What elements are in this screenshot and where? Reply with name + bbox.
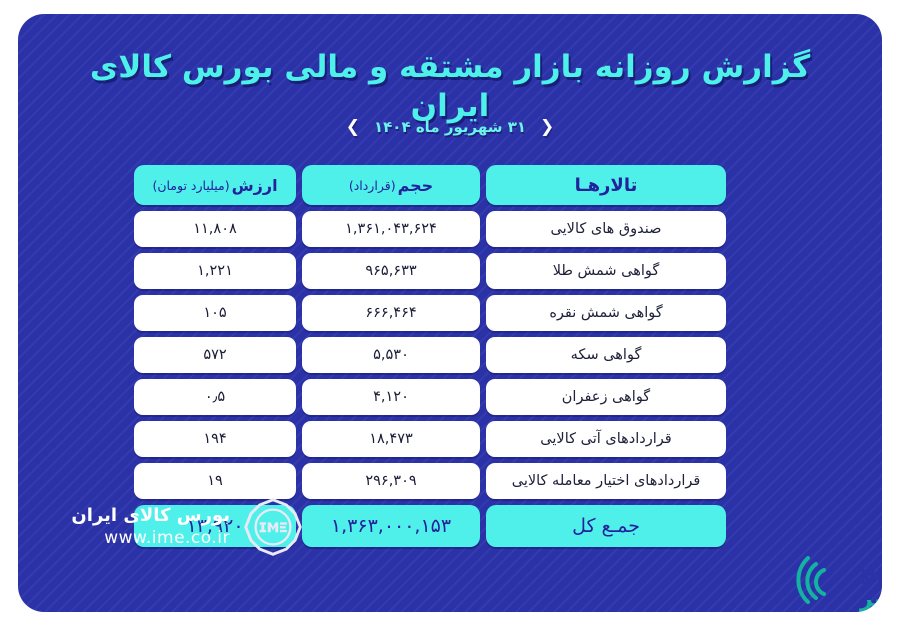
- chevron-left-icon: ❮: [540, 119, 554, 136]
- footer-brand: بورس کالای ایران www.ime.co.ir: [71, 498, 882, 556]
- cell-hall: قراردادهای آتی کالایی: [486, 421, 726, 457]
- column-header-volume-main: حجم: [398, 176, 434, 195]
- cell-volume: ۵,۵۳۰: [302, 337, 480, 373]
- cell-hall: گواهی زعفران: [486, 379, 726, 415]
- cell-volume: ۱۸,۴۷۳: [302, 421, 480, 457]
- footer: بورس کالای ایران www.ime.co.ir: [18, 498, 882, 556]
- cell-value: ۵۷۲: [134, 337, 296, 373]
- report-date: ۳۱ شهریور ماه ۱۴۰۴: [374, 118, 526, 136]
- column-header-value: ارزش(میلیارد تومان): [134, 165, 296, 205]
- cell-value: ۱۹۴: [134, 421, 296, 457]
- column-header-value-main: ارزش: [232, 176, 278, 195]
- column-header-volume: حجم(قرارداد): [302, 165, 480, 205]
- table-row: گواهی شمش طلا ۹۶۵,۶۳۳ ۱,۲۲۱: [134, 253, 726, 289]
- cell-value: ۱۱,۸۰۸: [134, 211, 296, 247]
- ime-logo-icon: [244, 498, 302, 556]
- column-header-value-unit: (میلیارد تومان): [152, 178, 229, 193]
- table-row: گواهی زعفران ۴,۱۲۰ ۰٫۵: [134, 379, 726, 415]
- table-row: قراردادهای آتی کالایی ۱۸,۴۷۳ ۱۹۴: [134, 421, 726, 457]
- cell-hall: گواهی سکه: [486, 337, 726, 373]
- cell-value: ۱۰۵: [134, 295, 296, 331]
- cell-hall: گواهی شمش نقره: [486, 295, 726, 331]
- report-table: تالارهـا حجم(قرارداد) ارزش(میلیارد تومان…: [134, 165, 726, 553]
- report-card: گزارش روزانه بازار مشتقه و مالی بورس کال…: [18, 14, 882, 612]
- brand-website: www.ime.co.ir: [71, 528, 230, 549]
- table-row: صندوق های کالایی ۱,۳۶۱,۰۴۳,۶۲۴ ۱۱,۸۰۸: [134, 211, 726, 247]
- cell-value: ۰٫۵: [134, 379, 296, 415]
- cell-volume: ۲۹۶,۳۰۹: [302, 463, 480, 499]
- cell-hall: صندوق های کالایی: [486, 211, 726, 247]
- page-title: گزارش روزانه بازار مشتقه و مالی بورس کال…: [18, 48, 882, 126]
- cell-volume: ۴,۱۲۰: [302, 379, 480, 415]
- table-row: قراردادهای اختیار معامله کالایی ۲۹۶,۳۰۹ …: [134, 463, 726, 499]
- table-row: گواهی سکه ۵,۵۳۰ ۵۷۲: [134, 337, 726, 373]
- date-block: ❮ ۳۱ شهریور ماه ۱۴۰۴ ❯: [18, 118, 882, 136]
- watermark-bottom-text: خبر: [859, 587, 882, 612]
- chevron-right-icon: ❯: [346, 119, 360, 136]
- column-header-hall: تالارهـا: [486, 165, 726, 205]
- cell-hall: قراردادهای اختیار معامله کالایی: [486, 463, 726, 499]
- kalakhabar-watermark: کالا خبر: [762, 540, 882, 612]
- title-block: گزارش روزانه بازار مشتقه و مالی بورس کال…: [18, 48, 882, 126]
- cell-volume: ۹۶۵,۶۳۳: [302, 253, 480, 289]
- table-row: گواهی شمش نقره ۶۶۶,۴۶۴ ۱۰۵: [134, 295, 726, 331]
- brand-name: بورس کالای ایران: [71, 505, 230, 528]
- cell-hall: گواهی شمش طلا: [486, 253, 726, 289]
- cell-volume: ۱,۳۶۱,۰۴۳,۶۲۴: [302, 211, 480, 247]
- cell-volume: ۶۶۶,۴۶۴: [302, 295, 480, 331]
- table-header-row: تالارهـا حجم(قرارداد) ارزش(میلیارد تومان…: [134, 165, 726, 205]
- column-header-volume-unit: (قرارداد): [349, 178, 396, 193]
- brand-text: بورس کالای ایران www.ime.co.ir: [71, 505, 230, 549]
- infographic-canvas: گزارش روزانه بازار مشتقه و مالی بورس کال…: [0, 0, 900, 631]
- cell-value: ۱۹: [134, 463, 296, 499]
- cell-value: ۱,۲۲۱: [134, 253, 296, 289]
